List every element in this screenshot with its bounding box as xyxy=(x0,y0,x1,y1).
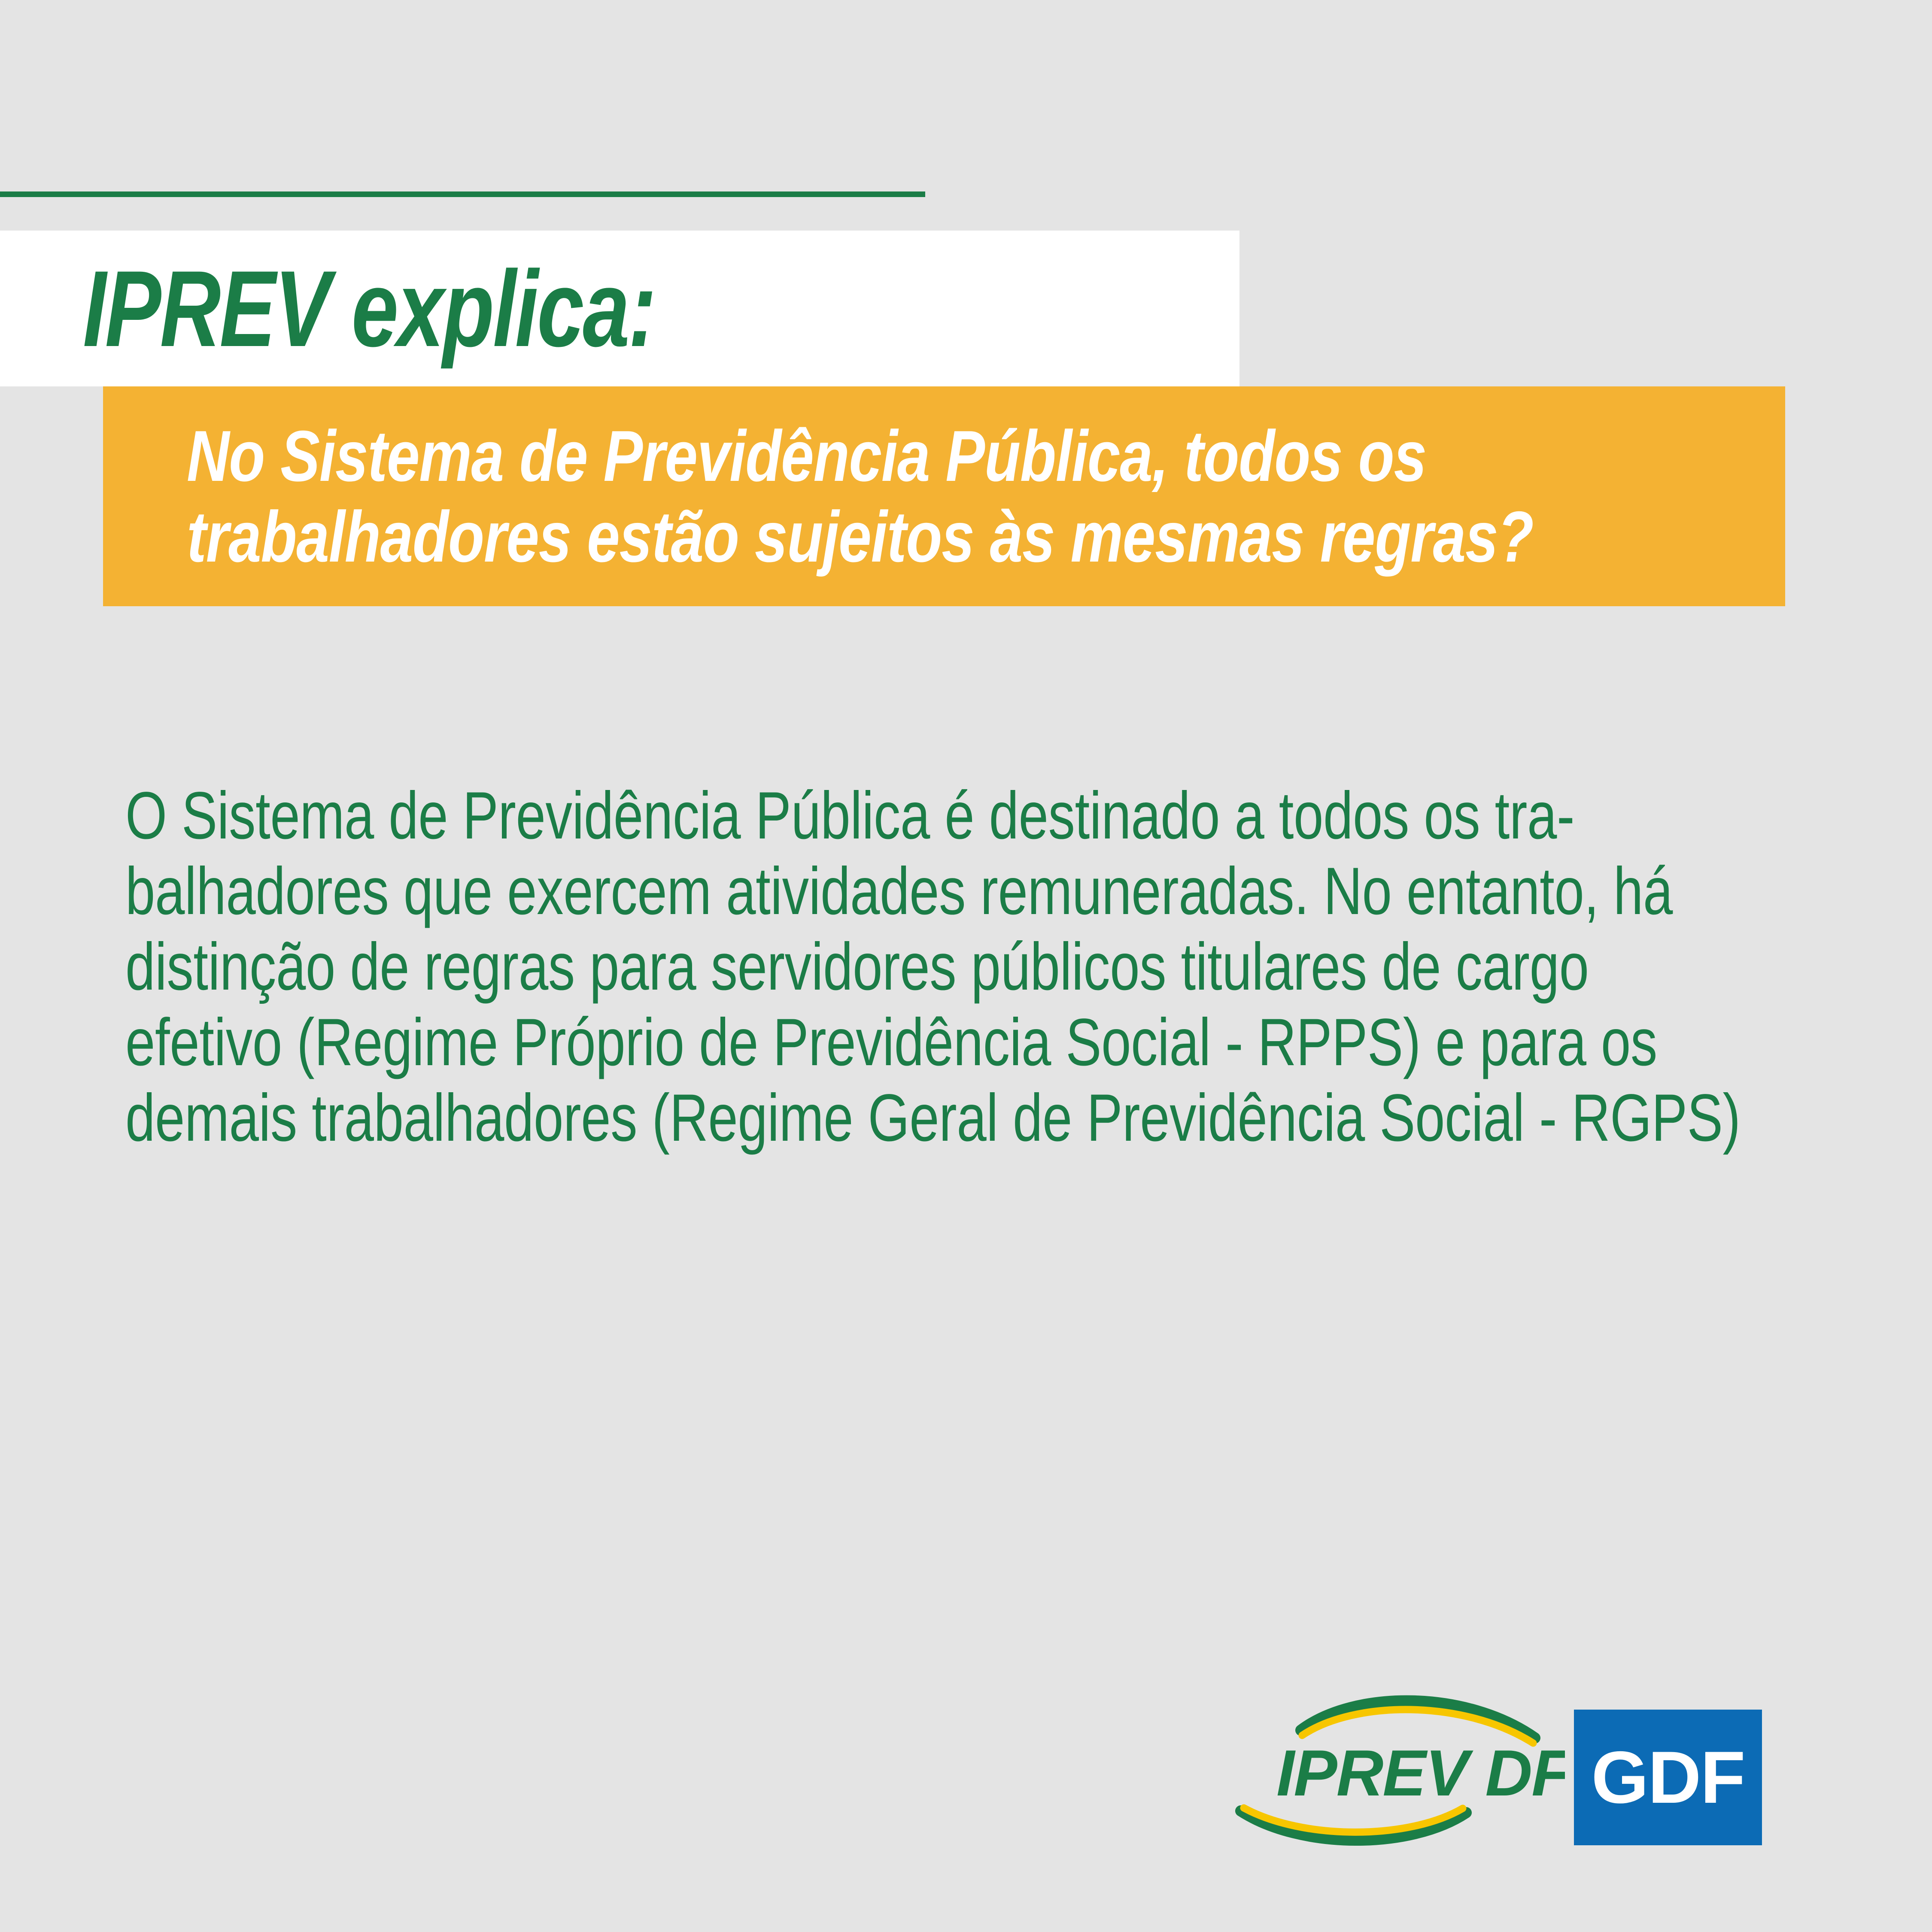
gdf-logo-text: GDF xyxy=(1574,1710,1762,1845)
green-divider-rule xyxy=(0,191,925,197)
question-banner: No Sistema de Previdência Pública, todos… xyxy=(103,386,1785,606)
iprev-df-logo: IPREV DF xyxy=(1226,1687,1565,1853)
question-text: No Sistema de Previdência Pública, todos… xyxy=(187,416,1489,577)
body-line-4: efetivo (Regime Próprio de Previdência S… xyxy=(125,1005,1499,1080)
body-copy: O Sistema de Previdência Pública é desti… xyxy=(125,778,1499,1156)
body-line-1: O Sistema de Previdência Pública é desti… xyxy=(125,778,1499,854)
body-line-3: distinção de regras para servidores públ… xyxy=(125,929,1499,1005)
question-line-1: No Sistema de Previdência Pública, todos… xyxy=(187,416,1489,496)
poster-canvas: IPREV explica: No Sistema de Previdência… xyxy=(0,0,1932,1932)
question-line-2: trabalhadores estão sujeitos às mesmas r… xyxy=(187,496,1489,577)
logo-wordmark: IPREV DF xyxy=(1276,1737,1565,1810)
page-title: IPREV explica: xyxy=(83,258,920,361)
body-line-5: demais trabalhadores (Regime Geral de Pr… xyxy=(125,1080,1499,1156)
body-line-2: balhadores que exercem atividades remune… xyxy=(125,854,1499,929)
gdf-logo-block: GDF xyxy=(1574,1710,1762,1845)
